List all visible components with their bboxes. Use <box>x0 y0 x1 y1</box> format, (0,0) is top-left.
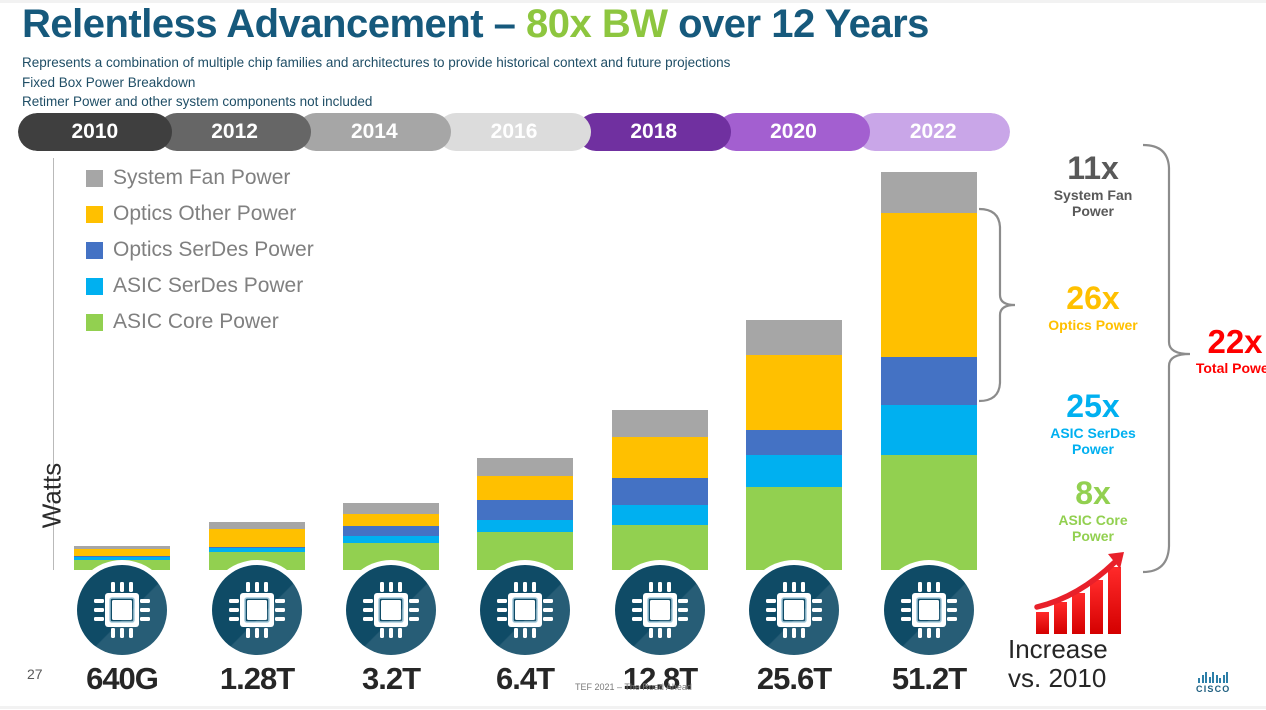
stacked-bar-3.2T <box>343 150 439 570</box>
timeline-year-label: 2010 <box>72 120 119 144</box>
bar-segment <box>477 500 573 520</box>
annotation-fan-label-1: System Fan <box>1028 187 1158 203</box>
bar-segment <box>746 320 842 355</box>
increase-caption: Increase vs. 2010 <box>1008 635 1168 693</box>
processor-chip-icon <box>77 565 167 655</box>
timeline-segment-2020: 2020 <box>717 113 871 151</box>
bar-segment <box>477 476 573 500</box>
bar-segment <box>343 526 439 536</box>
bar-segment <box>746 430 842 455</box>
chip-shadow <box>212 565 302 655</box>
cisco-logo-bars <box>1196 672 1231 683</box>
chip-label-group-12.8T: 12.8T <box>605 565 715 697</box>
processor-chip-icon <box>480 565 570 655</box>
bandwidth-label: 51.2T <box>874 661 984 697</box>
chip-label-group-25.6T: 25.6T <box>739 565 849 697</box>
bar-segment <box>746 355 842 430</box>
bar-segment <box>881 405 977 455</box>
stacked-bar-12.8T <box>612 150 708 570</box>
year-timeline: 2010201220142016201820202022 <box>18 113 1010 151</box>
annotation-optics-value: 26x <box>1028 282 1158 314</box>
chip-shadow <box>346 565 436 655</box>
bandwidth-label: 25.6T <box>739 661 849 697</box>
processor-chip-icon <box>346 565 436 655</box>
timeline-segment-2016: 2016 <box>437 113 591 151</box>
subtitle-line-1: Represents a combination of multiple chi… <box>22 55 730 70</box>
chip-shadow <box>884 565 974 655</box>
bar-segment <box>881 172 977 213</box>
bar-segment <box>343 536 439 543</box>
stacked-bar-6.4T <box>477 150 573 570</box>
timeline-year-label: 2018 <box>630 120 677 144</box>
bar-segment <box>881 357 977 405</box>
timeline-segment-2018: 2018 <box>577 113 731 151</box>
stacked-bar-640G <box>74 150 170 570</box>
cisco-wordmark: CISCO <box>1196 684 1231 694</box>
bandwidth-label: 3.2T <box>336 661 446 697</box>
annotation-system-fan: 11x System Fan Power <box>1028 152 1158 219</box>
timeline-segment-2022: 2022 <box>856 113 1010 151</box>
annotation-core-label-1: ASIC Core <box>1028 512 1158 528</box>
annotation-serdes-label-2: Power <box>1028 441 1158 457</box>
timeline-segment-2012: 2012 <box>158 113 312 151</box>
optics-brace <box>977 205 1017 405</box>
chip-label-group-51.2T: 51.2T <box>874 565 984 697</box>
subtitle-line-3: Retimer Power and other system component… <box>22 94 372 109</box>
chip-label-group-6.4T: 6.4T <box>470 565 580 697</box>
stacked-bar-1.28T <box>209 150 305 570</box>
chip-label-group-640G: 640G <box>67 565 177 697</box>
bar-segment <box>746 487 842 570</box>
bandwidth-label: 1.28T <box>202 661 312 697</box>
chip-shadow <box>749 565 839 655</box>
bar-segment <box>477 520 573 532</box>
growth-annotations: 11x System Fan Power 26x Optics Power 25… <box>1010 150 1266 580</box>
timeline-segment-2010: 2010 <box>18 113 172 151</box>
increase-line-1: Increase <box>1008 635 1168 664</box>
chip-shadow <box>615 565 705 655</box>
bar-segment <box>612 410 708 437</box>
page-title: Relentless Advancement – 80x BW over 12 … <box>22 2 929 47</box>
total-brace <box>1140 142 1195 577</box>
processor-chip-icon <box>884 565 974 655</box>
processor-chip-icon <box>615 565 705 655</box>
bandwidth-label: 640G <box>67 661 177 697</box>
title-highlight: 80x BW <box>526 2 668 46</box>
bar-segment <box>612 505 708 525</box>
footnote: TEF 2021 – The Road Ahead <box>575 682 692 692</box>
annotation-core-label-2: Power <box>1028 528 1158 544</box>
bar-segment <box>612 478 708 505</box>
annotation-total-label: Total Power <box>1190 360 1266 376</box>
bar-segment <box>209 529 305 547</box>
subtitle-line-2: Fixed Box Power Breakdown <box>22 75 195 90</box>
annotation-core-value: 8x <box>1028 477 1158 509</box>
chip-icons-row: 640G 1.28T <box>0 565 1010 710</box>
timeline-year-label: 2014 <box>351 120 398 144</box>
stacked-bar-51.2T <box>881 150 977 570</box>
chip-shadow <box>480 565 570 655</box>
timeline-segment-2014: 2014 <box>297 113 451 151</box>
annotation-asic-core: 8x ASIC Core Power <box>1028 477 1158 544</box>
timeline-year-label: 2016 <box>491 120 538 144</box>
annotation-fan-value: 11x <box>1028 152 1158 184</box>
bar-segment <box>343 514 439 526</box>
bar-segment <box>612 437 708 478</box>
stacked-bar-25.6T <box>746 150 842 570</box>
annotation-total-power: 22x Total Power <box>1190 325 1266 376</box>
annotation-optics-label: Optics Power <box>1028 317 1158 333</box>
bar-segment <box>612 525 708 570</box>
bar-segment <box>881 213 977 357</box>
slide-canvas: Relentless Advancement – 80x BW over 12 … <box>0 0 1266 709</box>
annotation-serdes-label-1: ASIC SerDes <box>1028 425 1158 441</box>
processor-chip-icon <box>212 565 302 655</box>
annotation-serdes-value: 25x <box>1028 390 1158 422</box>
chip-shadow <box>77 565 167 655</box>
page-number: 27 <box>27 666 43 682</box>
timeline-year-label: 2022 <box>910 120 957 144</box>
annotation-fan-label-2: Power <box>1028 203 1158 219</box>
title-part-2: over 12 Years <box>668 2 929 46</box>
bar-segment <box>881 455 977 570</box>
annotation-asic-serdes: 25x ASIC SerDes Power <box>1028 390 1158 457</box>
bandwidth-label: 6.4T <box>470 661 580 697</box>
timeline-year-label: 2012 <box>211 120 258 144</box>
stacked-bars-group <box>0 150 1010 570</box>
title-part-1: Relentless Advancement – <box>22 2 526 46</box>
bar-segment <box>209 522 305 529</box>
chip-label-group-1.28T: 1.28T <box>202 565 312 697</box>
cisco-logo: CISCO <box>1196 672 1231 694</box>
annotation-optics: 26x Optics Power <box>1028 282 1158 333</box>
processor-chip-icon <box>749 565 839 655</box>
bar-segment <box>74 549 170 556</box>
chip-label-group-3.2T: 3.2T <box>336 565 446 697</box>
bar-segment <box>477 458 573 476</box>
bar-segment <box>746 455 842 487</box>
increase-line-2: vs. 2010 <box>1008 664 1168 693</box>
timeline-year-label: 2020 <box>770 120 817 144</box>
annotation-total-value: 22x <box>1190 325 1266 358</box>
bar-segment <box>343 503 439 514</box>
